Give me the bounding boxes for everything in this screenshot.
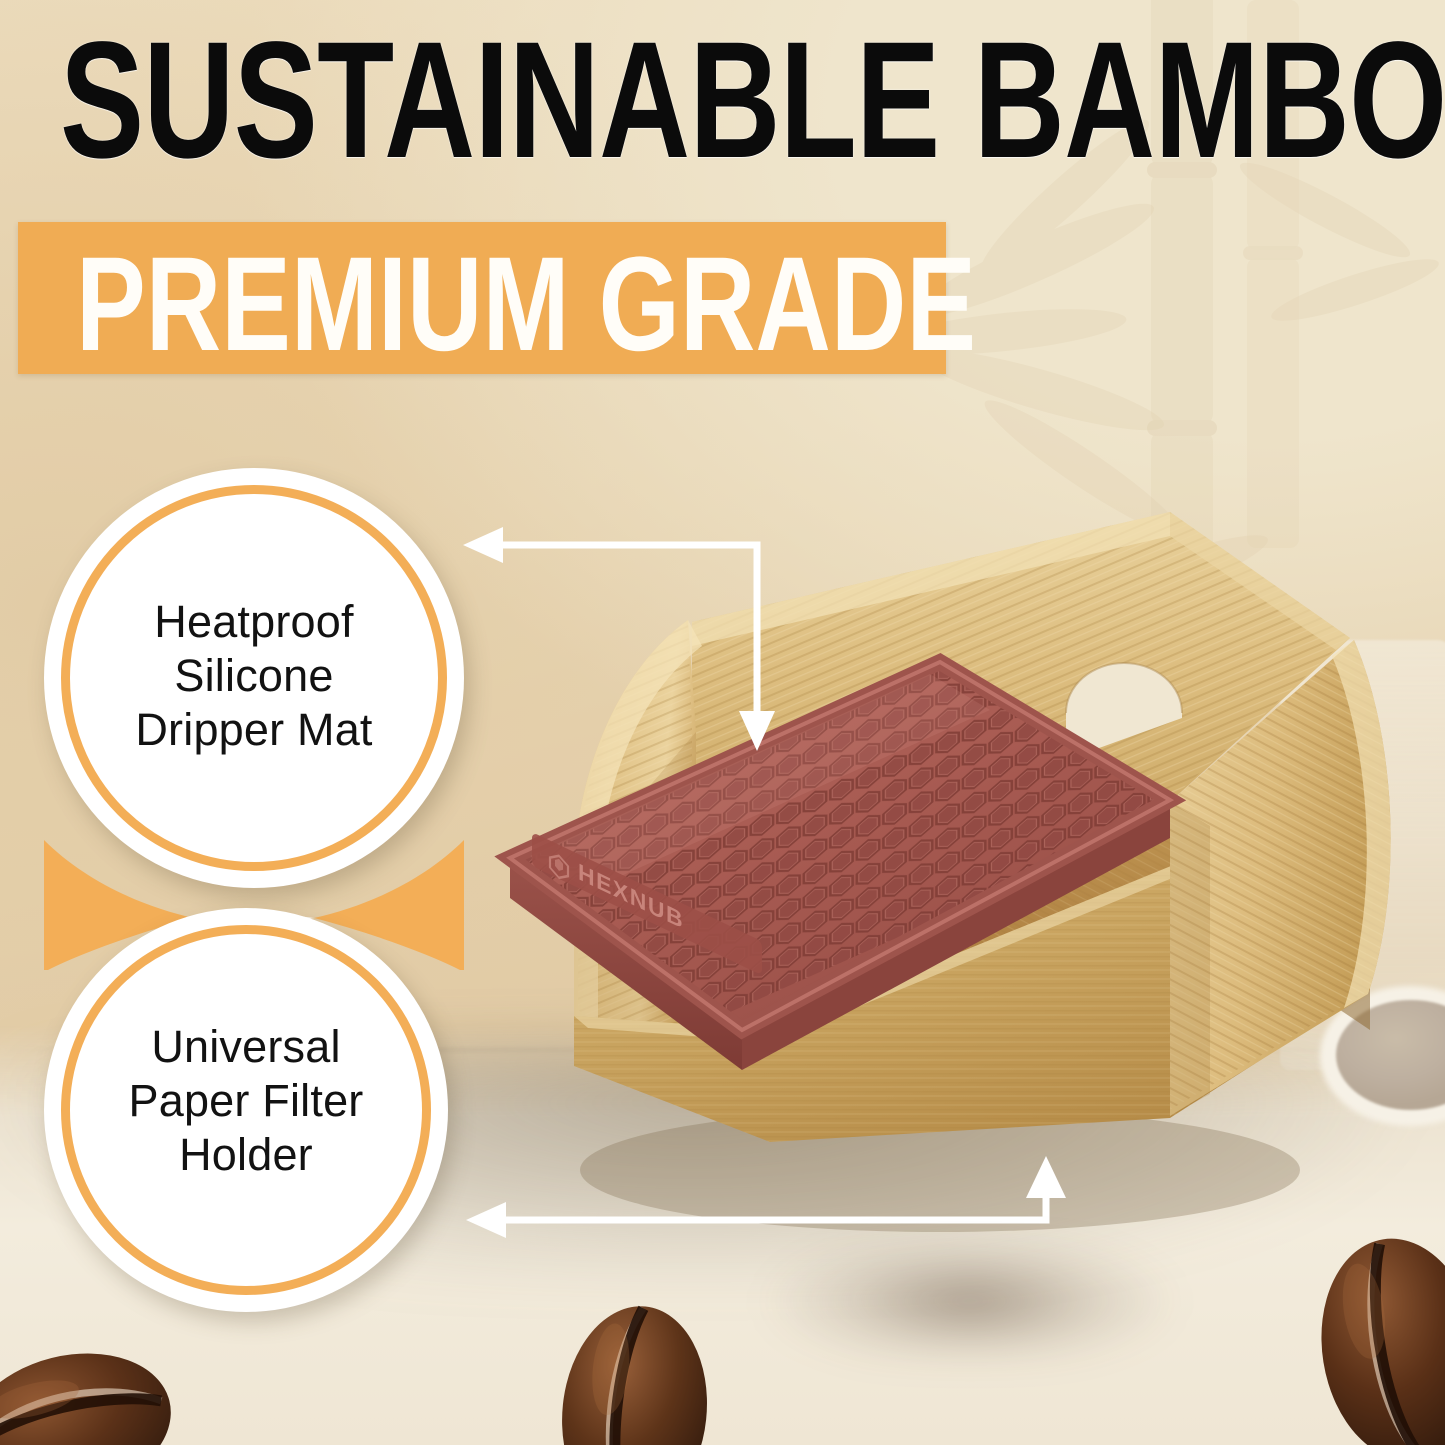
infographic-canvas: SUSTAINABLE BAMBOO PREMIUM GRADE [0, 0, 1445, 1445]
callout-filter-holder-label: Universal Paper Filter Holder [44, 1020, 448, 1182]
headline-text: SUSTAINABLE BAMBOO [60, 26, 1040, 175]
product-image-bamboo-station: HEXNUB [470, 470, 1410, 1260]
badge-label: PREMIUM GRADE [76, 238, 976, 372]
callout-filter-holder[interactable]: Universal Paper Filter Holder [44, 908, 448, 1312]
callout-silicone-mat-label: Heatproof Silicone Dripper Mat [44, 595, 464, 757]
blurred-bean-shadow [760, 1246, 1180, 1356]
coffee-bean-icon [534, 1291, 735, 1445]
premium-grade-badge: PREMIUM GRADE [18, 222, 946, 374]
callout-silicone-mat[interactable]: Heatproof Silicone Dripper Mat [44, 468, 464, 888]
